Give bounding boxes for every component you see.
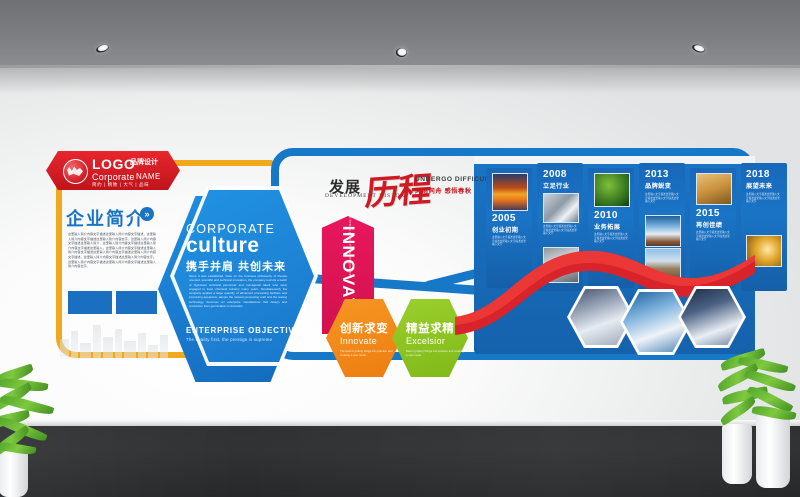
timeline-label: 再创佳绩 [696, 220, 722, 229]
timeline-photo [696, 173, 732, 205]
logo-tiny-text: 简约 | 精致 | 大气 | 品味 [92, 182, 149, 187]
timeline-label: 品牌蜕变 [645, 181, 671, 190]
culture-wall-artwork: LOGO 品牌设计 Corporate NAME 简约 | 精致 | 大气 | … [0, 0, 800, 497]
globe-icon [63, 159, 88, 184]
timeline-year: 2008 [543, 169, 567, 180]
value-hex-cn-0: 创新求变 [340, 320, 388, 336]
logo-name-text: NAME [136, 172, 161, 182]
timeline-year: 2005 [492, 213, 516, 224]
timeline-photo [645, 215, 681, 247]
city-skyline-graphic [58, 315, 170, 359]
value-hex-cn-1: 精益求精 [406, 320, 454, 336]
culture-en-big: culture [186, 234, 260, 258]
timeline-photo-2 [543, 247, 579, 283]
intro-title: 企业简介 [66, 205, 146, 231]
enterprise-objective-title: ENTERPRISE OBJECTIVE [186, 326, 301, 335]
timeline-panel[interactable]: 2005 创业初期 这里输入文字描述这里输入文字描述这里输入文字描述这里输入文字 [486, 168, 532, 288]
logo-main-text: LOGO [92, 157, 135, 171]
timeline-text: 这里输入文字描述这里输入文字描述这里输入文字描述这里输入文字 [492, 236, 528, 247]
value-hex-en-1: Excelsior [406, 336, 445, 346]
intro-body-text: 这里输入简介内容文字描述这里输入简介内容文字描述，这里输入简介内容文字描述这里输… [68, 232, 156, 269]
timeline-label: 展望未来 [746, 181, 772, 190]
enterprise-objective-sub: The quality first, the prestige is supre… [186, 337, 272, 342]
intro-image-placeholder [68, 291, 112, 314]
value-hex-tiny-0: The best in putting things into practice… [340, 349, 400, 357]
timeline-photo [746, 235, 782, 267]
chevron-right-icon[interactable]: » [140, 207, 154, 221]
plant-pot-right-b [756, 412, 790, 488]
timeline-label: 业务拓展 [594, 222, 620, 231]
intro-image-placeholder [116, 291, 157, 314]
white-strip [474, 156, 755, 164]
timeline-panel[interactable]: 2013 品牌蜕变 这里输入文字描述这里输入文字描述这里输入文字描述这里输入文字 [639, 163, 685, 291]
timeline-text: 这里输入文字描述这里输入文字描述这里输入文字描述这里输入文字 [543, 225, 579, 236]
timeline-label: 立足行业 [543, 181, 569, 190]
timeline-photo [594, 173, 630, 207]
plant-right [716, 352, 800, 497]
screenshot-root: LOGO 品牌设计 Corporate NAME 简约 | 精致 | 大气 | … [0, 0, 800, 497]
plant-pot-right-a [722, 424, 752, 484]
yellow-bar-stub [176, 160, 274, 166]
value-hex-en-0: Innovate [340, 336, 377, 346]
timeline-panel[interactable]: 2010 业务拓展 这里输入文字描述这里输入文字描述这里输入文字描述这里输入文字 [588, 168, 634, 288]
timeline-text: 这里输入文字描述这里输入文字描述这里输入文字描述这里输入文字 [594, 233, 630, 244]
timeline-text: 这里输入文字描述这里输入文字描述这里输入文字描述这里输入文字 [746, 193, 782, 204]
culture-body-text: Since it was established, base on the bu… [189, 274, 287, 308]
logo-banner[interactable]: LOGO 品牌设计 Corporate NAME 简约 | 精致 | 大气 | … [46, 151, 180, 190]
timeline-year: 2015 [696, 208, 720, 219]
timeline-panel[interactable]: 2018 展望未来 这里输入文字描述这里输入文字描述这里输入文字描述这里输入文字 [741, 163, 787, 291]
timeline-photo [492, 173, 528, 211]
culture-cn-slogan: 携手并肩 共创未来 [186, 258, 286, 274]
timeline-year: 2013 [645, 169, 669, 180]
timeline-panel[interactable]: 2008 立足行业 这里输入文字描述这里输入文字描述这里输入文字描述这里输入文字 [537, 163, 583, 291]
plant-left [0, 366, 60, 497]
timeline-photo-2 [645, 248, 681, 280]
value-hex-tiny-1: Best in putting things into practice and… [406, 349, 466, 357]
logo-sub-text: Corporate [92, 172, 135, 182]
logo-cn-tag: 品牌设计 [130, 159, 158, 167]
timeline-text: 这里输入文字描述这里输入文字描述这里输入文字描述这里输入文字 [645, 193, 681, 204]
timeline-year: 2018 [746, 169, 770, 180]
timeline-text: 这里输入文字描述这里输入文字描述这里输入文字描述这里输入文字 [696, 231, 732, 242]
undergo-difficulties-cn: 风雨同舟 感悟春秋 [415, 186, 472, 195]
plant-pot-left [0, 450, 28, 497]
timeline-year: 2010 [594, 210, 618, 221]
timeline-photo [543, 193, 579, 223]
timeline-panel[interactable]: 2015 再创佳绩 这里输入文字描述这里输入文字描述这里输入文字描述这里输入文字 [690, 168, 736, 288]
timeline-label: 创业初期 [492, 225, 518, 234]
